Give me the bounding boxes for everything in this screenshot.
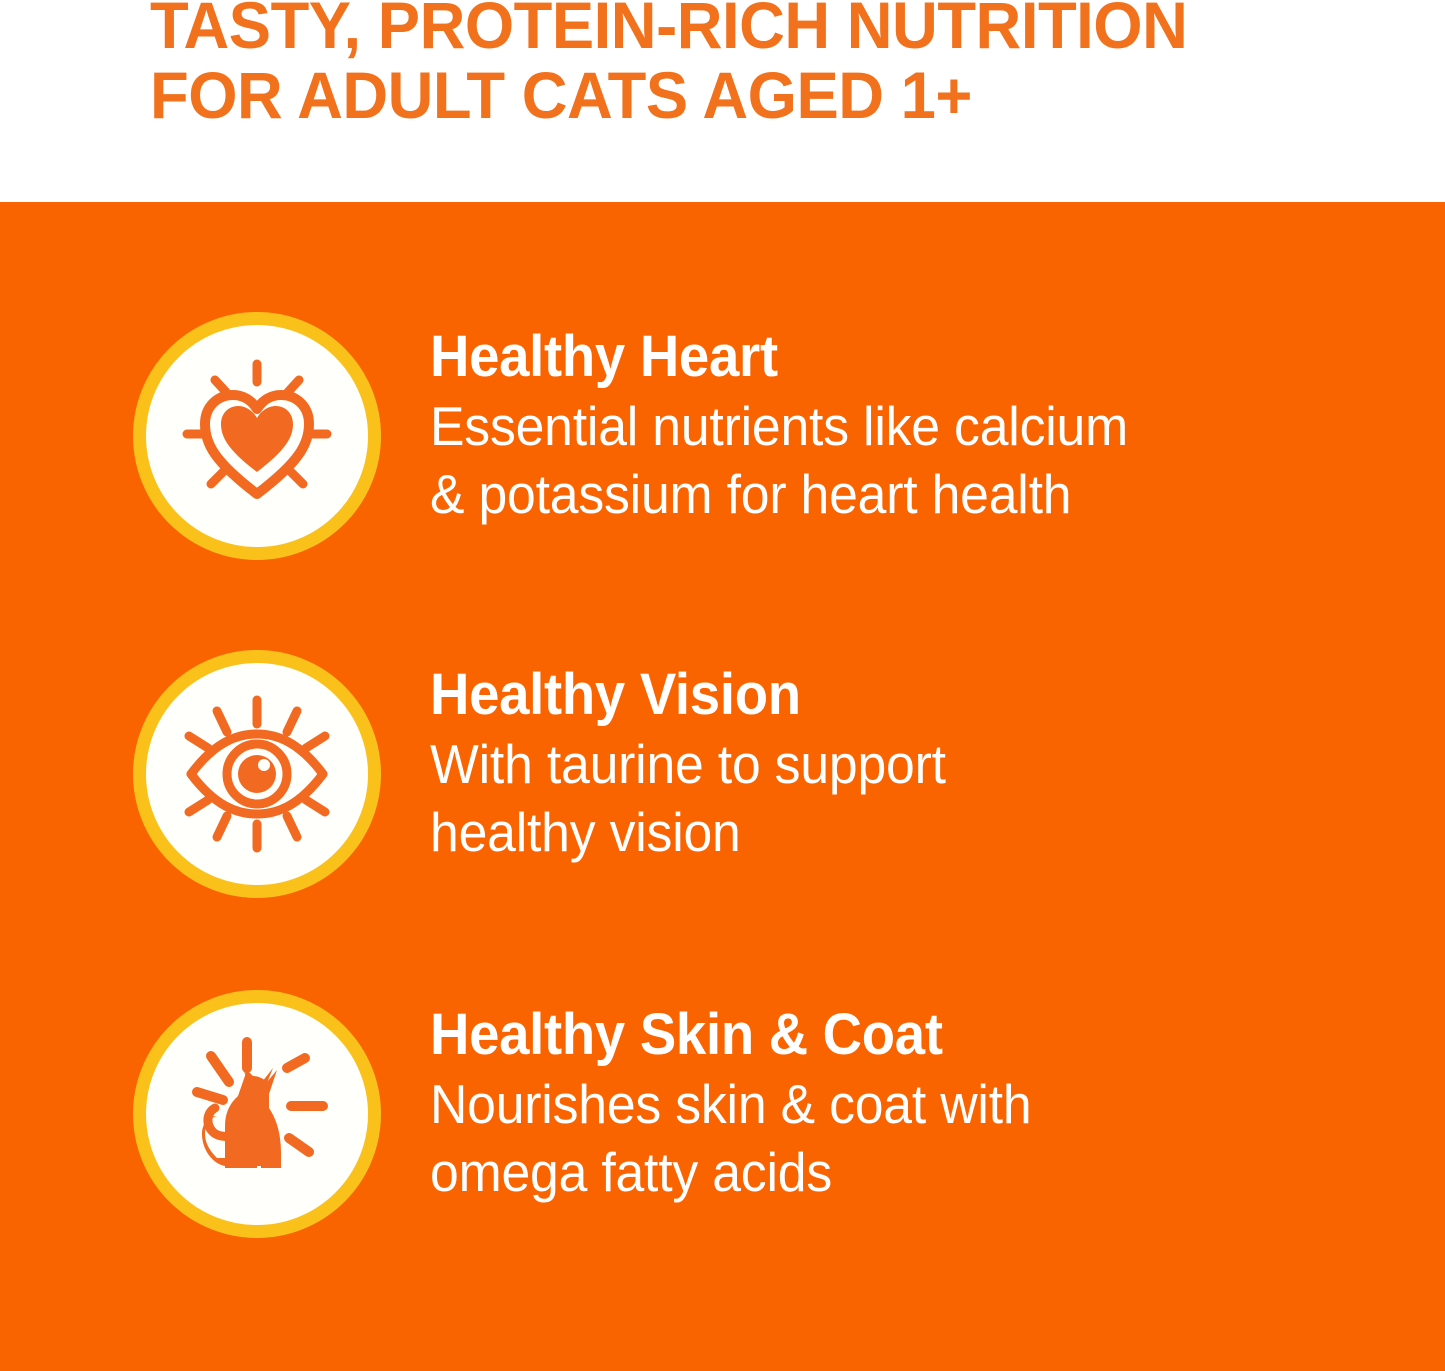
page-headline: TASTY, PROTEIN-RICH NUTRITION FOR ADULT … [150,0,1350,130]
cat-rays-icon [177,1034,337,1194]
benefit-description: Essential nutrients like calcium & potas… [430,392,1295,528]
heart-rays-icon-badge [133,312,381,560]
benefit-text-heart: Healthy Heart Essential nutrients like c… [430,326,1350,528]
benefit-text-skin-coat: Healthy Skin & Coat Nourishes skin & coa… [430,1004,1350,1206]
benefit-title: Healthy Vision [430,664,1295,726]
heart-rays-icon [177,356,337,516]
header-band: TASTY, PROTEIN-RICH NUTRITION FOR ADULT … [0,0,1445,202]
benefit-title: Healthy Skin & Coat [430,1004,1295,1066]
eye-rays-icon-badge [133,650,381,898]
cat-rays-icon-badge [133,990,381,1238]
benefit-title: Healthy Heart [430,326,1295,388]
benefit-description: With taurine to support healthy vision [430,730,1295,866]
benefit-description: Nourishes skin & coat with omega fatty a… [430,1070,1295,1206]
benefit-text-vision: Healthy Vision With taurine to support h… [430,664,1350,866]
benefits-panel: Healthy Heart Essential nutrients like c… [0,202,1445,1371]
eye-rays-icon [177,694,337,854]
